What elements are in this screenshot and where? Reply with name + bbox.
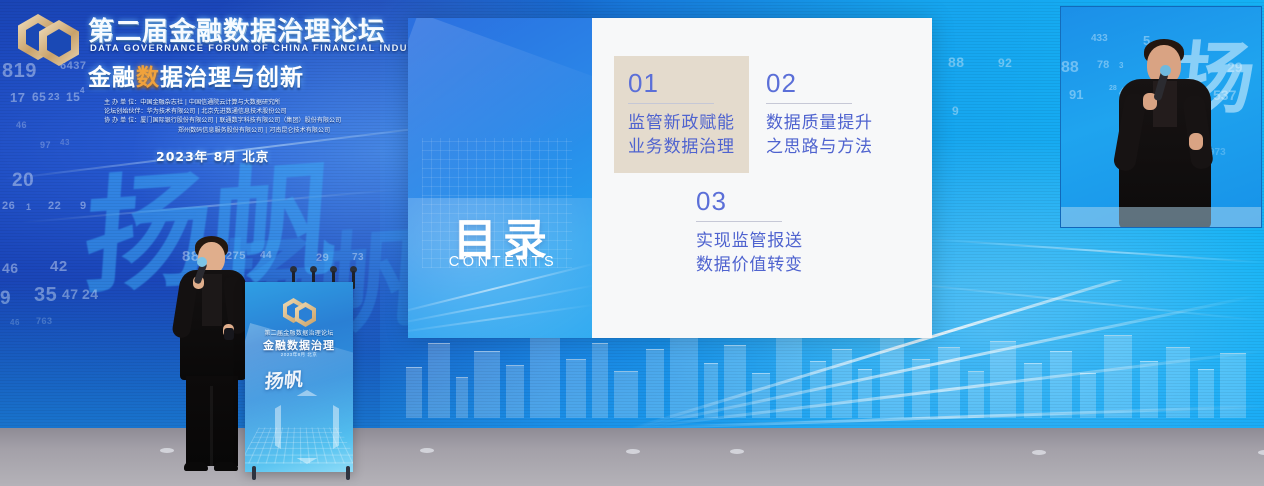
organizer-line: 论坛创始伙伴：华为技术有限公司 | 北京先进数通信息技术股份公司	[104, 107, 404, 116]
podium-foot-left	[252, 466, 256, 480]
branded-podium: 第二届金融数据治理论坛 金融数据治理 2023年8月 北京 扬帆	[245, 282, 353, 472]
forum-hexagon-logo-icon	[18, 12, 82, 68]
subtitle-part-2: 据治理与创新	[160, 65, 304, 91]
agenda-item-number: 03	[696, 186, 803, 216]
decorative-number: 42	[50, 258, 68, 275]
video-microphone-head-icon	[1160, 65, 1171, 76]
decorative-number: 46	[2, 260, 19, 276]
decorative-number: 9	[952, 104, 959, 118]
video-foreground-desk	[1061, 207, 1261, 227]
podium-calligraphy: 扬帆	[264, 365, 304, 395]
decorative-number: 29	[316, 252, 329, 264]
speaker-shoe-right	[214, 462, 238, 471]
agenda-item-rule	[628, 103, 714, 104]
decorative-number: 88	[948, 54, 965, 70]
organizer-line: 协 办 单 位：厦门国际银行股份有限公司 | 联通数字科技有限公司（集团）股份有…	[104, 116, 404, 125]
slide-section-title-cn: 目录	[428, 204, 578, 268]
slide-content-panel: 01 监管新政赋能 业务数据治理 02 数据质量提升 之思路与方法 03 实现监…	[592, 18, 932, 338]
microphone-head-icon	[197, 257, 207, 267]
slide-section-title-en: CONTENTS	[428, 254, 578, 270]
event-banner: 第二届金融数据治理论坛 DATA GOVERNANCE FORUM OF CHI…	[18, 6, 418, 166]
podium-foot-right	[346, 466, 350, 480]
decorative-number: 28	[1109, 85, 1117, 92]
decorative-number: 537	[1213, 87, 1236, 103]
agenda-item-01[interactable]: 01 监管新政赋能 业务数据治理	[614, 56, 749, 173]
decorative-number: 20	[12, 170, 34, 192]
agenda-item-03[interactable]: 03 实现监管报送 数据价值转变	[696, 186, 803, 277]
podium-title-tiny: 2023年8月 北京	[245, 352, 353, 358]
decorative-number: 91	[1069, 87, 1083, 102]
presentation-slide: 目录 CONTENTS 01 监管新政赋能 业务数据治理 02 数据质量提升 之…	[408, 18, 932, 338]
agenda-item-line2: 之思路与方法	[766, 136, 873, 160]
speaker-shoe-left	[184, 462, 208, 471]
podium-title-small: 第二届金融数据治理论坛	[245, 328, 353, 337]
decorative-number: 44	[260, 250, 272, 261]
video-speaker-hand-right	[1189, 133, 1203, 150]
agenda-item-rule	[696, 221, 782, 222]
banner-subtitle: 金融数据治理与创新	[88, 58, 304, 92]
organizer-list: 主 办 单 位：中国金融杂志社 | 中国信通院云计算与大数据研究所 论坛创始伙伴…	[104, 98, 404, 135]
live-camera-feed-screen: 扬 433 5 88 78 3 29 91 28 480 537 973	[1060, 6, 1262, 228]
decorative-number: 92	[998, 56, 1012, 70]
decorative-number: 22	[48, 200, 61, 212]
podium-hexagon-logo-icon	[283, 298, 317, 324]
agenda-item-02[interactable]: 02 数据质量提升 之思路与方法	[766, 68, 873, 159]
conference-stage-photo: 扬帆 扬帆 819 6437 17 65 23 15 4 46 97 43 20…	[0, 0, 1264, 486]
organizer-line: 郑州数码信息服务股份有限公司 | 河南昆仑技术有限公司	[104, 126, 404, 135]
speaker-trousers	[186, 376, 238, 466]
slide-grid-decor	[422, 138, 572, 268]
agenda-item-line2: 数据价值转变	[696, 254, 803, 278]
decorative-number: 29	[1227, 59, 1243, 75]
agenda-item-number: 02	[766, 68, 873, 98]
speaker-inner-top	[202, 274, 222, 326]
podium-grid-decor	[245, 427, 353, 463]
presentation-clicker-icon	[224, 328, 234, 340]
agenda-item-number: 01	[628, 68, 735, 98]
podium-title-big: 金融数据治理	[245, 337, 353, 353]
decorative-number: 26	[2, 200, 15, 212]
decorative-number: 88	[1061, 59, 1079, 77]
agenda-item-line2: 业务数据治理	[628, 136, 735, 160]
decorative-number: 1	[26, 202, 32, 212]
agenda-item-rule	[766, 103, 852, 104]
banner-title-en: DATA GOVERNANCE FORUM OF CHINA FINANCIAL…	[90, 42, 438, 53]
agenda-item-line1: 实现监管报送	[696, 230, 803, 254]
event-date-location: 2023年 8月 北京	[156, 146, 269, 165]
decorative-number: 433	[1091, 33, 1108, 44]
decorative-number: 9	[80, 200, 87, 212]
decorative-number: 3	[1119, 61, 1123, 70]
agenda-item-line1: 数据质量提升	[766, 112, 873, 136]
organizer-line: 主 办 单 位：中国金融杂志社 | 中国信通院云计算与大数据研究所	[104, 98, 404, 107]
decorative-number: 78	[1097, 59, 1109, 71]
subtitle-highlight: 数	[136, 65, 160, 91]
slide-title-panel: 目录 CONTENTS	[408, 18, 592, 338]
agenda-item-line1: 监管新政赋能	[628, 112, 735, 136]
subtitle-part-1: 金融	[88, 65, 136, 91]
decorative-number: 73	[352, 252, 364, 263]
